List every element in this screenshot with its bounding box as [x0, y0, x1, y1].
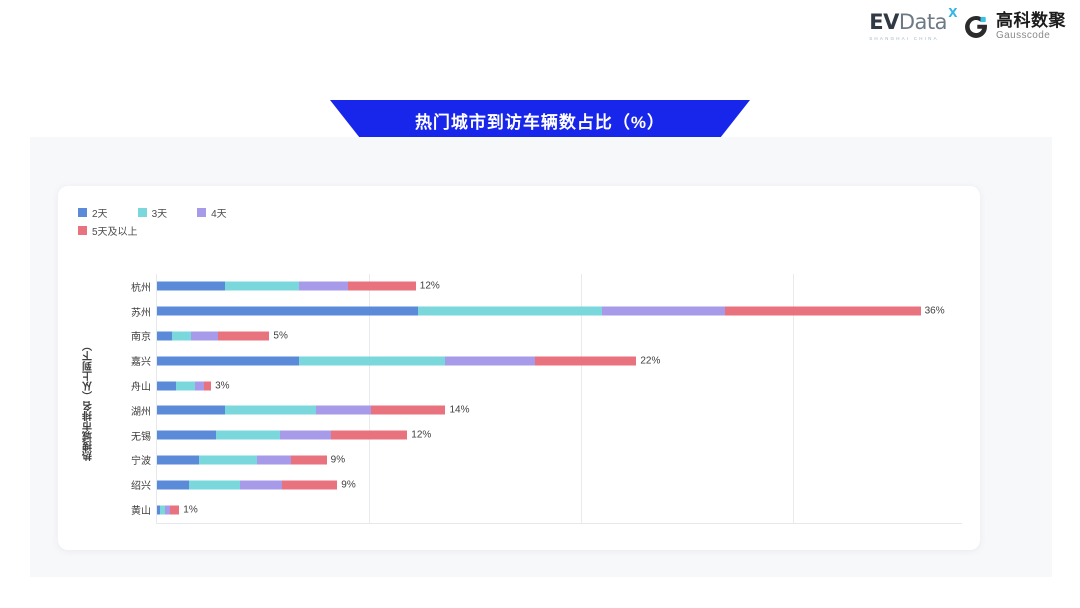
plot-grid-area: 杭州12%苏州36%南京5%嘉兴22%舟山3%湖州14%无锡12%宁波9%绍兴9…	[156, 274, 962, 524]
bar-row[interactable]: 舟山3%	[157, 373, 962, 398]
bar-segment-3天[interactable]	[225, 406, 316, 415]
stacked-bar[interactable]	[157, 505, 179, 514]
title-banner: 热门城市到访车辆数占比（%）	[330, 100, 750, 140]
stacked-bar[interactable]	[157, 356, 636, 365]
bar-value-label: 22%	[636, 355, 660, 366]
chart-legend: 2天3天4天5天及以上	[78, 206, 498, 237]
bar-segment-3天[interactable]	[189, 480, 240, 489]
bar-segment-2天[interactable]	[157, 406, 225, 415]
legend-label: 4天	[211, 205, 227, 220]
legend-swatch-icon	[78, 226, 87, 235]
bar-segment-2天[interactable]	[157, 356, 299, 365]
bar-segment-4天[interactable]	[602, 307, 725, 316]
bar-segment-3天[interactable]	[418, 307, 603, 316]
stacked-bar[interactable]	[157, 455, 327, 464]
bar-segment-5天及以上[interactable]	[291, 455, 327, 464]
stacked-bar[interactable]	[157, 381, 211, 390]
bar-segment-4天[interactable]	[299, 282, 348, 291]
bar-segment-4天[interactable]	[195, 381, 203, 390]
bar-row[interactable]: 苏州36%	[157, 299, 962, 324]
stacked-bar[interactable]	[157, 431, 407, 440]
bar-value-label: 12%	[416, 281, 440, 292]
bar-segment-5天及以上[interactable]	[204, 381, 211, 390]
slide-root: EVData X shanghai china 高科数聚 Gausscode 热…	[0, 0, 1080, 608]
legend-label: 3天	[152, 205, 168, 220]
bar-segment-5天及以上[interactable]	[331, 431, 407, 440]
bar-value-label: 14%	[445, 405, 469, 416]
brand-logo-bar: EVData X shanghai china 高科数聚 Gausscode	[869, 12, 1066, 41]
y-axis-label-湖州: 湖州	[85, 403, 151, 418]
bar-row[interactable]: 绍兴9%	[157, 472, 962, 497]
bar-row[interactable]: 黄山1%	[157, 497, 962, 522]
evdata-tagline: shanghai china	[869, 36, 939, 41]
legend-swatch-icon	[78, 208, 87, 217]
evdata-logo: EVData X shanghai china	[869, 12, 947, 41]
gausscode-logo: 高科数聚 Gausscode	[963, 12, 1066, 41]
bar-value-label: 9%	[327, 454, 345, 465]
bar-segment-5天及以上[interactable]	[170, 505, 180, 514]
bar-segment-3天[interactable]	[216, 431, 280, 440]
y-axis-label-南京: 南京	[85, 328, 151, 343]
legend-item-2天[interactable]: 2天	[78, 206, 108, 219]
bar-row[interactable]: 南京5%	[157, 324, 962, 349]
stacked-bar[interactable]	[157, 307, 921, 316]
bar-segment-5天及以上[interactable]	[218, 331, 269, 340]
legend-item-5天及以上[interactable]: 5天及以上	[78, 224, 498, 237]
chart-plot-area: 热搜城市排名（从上到下） 杭州12%苏州36%南京5%嘉兴22%舟山3%湖州14…	[82, 274, 962, 524]
evdata-wordmark: EVData X	[869, 12, 947, 33]
title-banner-wrap: 热门城市到访车辆数占比（%）	[0, 100, 1080, 142]
bar-segment-3天[interactable]	[172, 331, 191, 340]
bar-row[interactable]: 无锡12%	[157, 423, 962, 448]
bar-segment-3天[interactable]	[176, 381, 195, 390]
bar-segment-4天[interactable]	[316, 406, 371, 415]
evdata-ev-text: EV	[869, 10, 899, 34]
legend-label: 5天及以上	[92, 223, 138, 238]
bar-segment-5天及以上[interactable]	[535, 356, 637, 365]
chart-card: 2天3天4天5天及以上 热搜城市排名（从上到下） 杭州12%苏州36%南京5%嘉…	[58, 186, 980, 550]
y-axis-label-杭州: 杭州	[85, 279, 151, 294]
bar-segment-5天及以上[interactable]	[725, 307, 920, 316]
bar-segment-4天[interactable]	[280, 431, 331, 440]
evdata-x-superscript: X	[948, 7, 957, 19]
bar-segment-3天[interactable]	[225, 282, 299, 291]
stacked-bar[interactable]	[157, 331, 269, 340]
bar-segment-2天[interactable]	[157, 455, 199, 464]
bar-segment-2天[interactable]	[157, 331, 172, 340]
bar-segment-2天[interactable]	[157, 480, 189, 489]
bar-value-label: 1%	[179, 504, 197, 515]
stacked-bar[interactable]	[157, 282, 416, 291]
bar-segment-5天及以上[interactable]	[371, 406, 445, 415]
legend-item-4天[interactable]: 4天	[197, 206, 227, 219]
bar-row[interactable]: 杭州12%	[157, 274, 962, 299]
stacked-bar[interactable]	[157, 406, 445, 415]
bar-segment-2天[interactable]	[157, 431, 216, 440]
bar-segment-2天[interactable]	[157, 381, 176, 390]
legend-item-3天[interactable]: 3天	[138, 206, 168, 219]
y-axis-label-嘉兴: 嘉兴	[85, 353, 151, 368]
bar-segment-2天[interactable]	[157, 307, 418, 316]
y-axis-label-宁波: 宁波	[85, 452, 151, 467]
legend-swatch-icon	[138, 208, 147, 217]
bar-row[interactable]: 湖州14%	[157, 398, 962, 423]
bar-segment-4天[interactable]	[445, 356, 534, 365]
gausscode-name-cn: 高科数聚	[996, 12, 1066, 29]
bar-segment-5天及以上[interactable]	[282, 480, 337, 489]
bar-value-label: 5%	[269, 330, 287, 341]
gausscode-name-en: Gausscode	[996, 31, 1066, 41]
bar-segment-3天[interactable]	[199, 455, 256, 464]
gausscode-text: 高科数聚 Gausscode	[996, 12, 1066, 41]
y-axis-label-绍兴: 绍兴	[85, 477, 151, 492]
legend-label: 2天	[92, 205, 108, 220]
y-axis-label-苏州: 苏州	[85, 304, 151, 319]
bar-segment-4天[interactable]	[240, 480, 282, 489]
bar-segment-5天及以上[interactable]	[348, 282, 416, 291]
bar-value-label: 36%	[921, 306, 945, 317]
bar-row[interactable]: 宁波9%	[157, 448, 962, 473]
bar-segment-2天[interactable]	[157, 282, 225, 291]
bar-segment-3天[interactable]	[299, 356, 445, 365]
stacked-bar[interactable]	[157, 480, 337, 489]
y-axis-label-黄山: 黄山	[85, 502, 151, 517]
bar-segment-4天[interactable]	[257, 455, 291, 464]
gausscode-mark-icon	[963, 14, 989, 40]
bar-row[interactable]: 嘉兴22%	[157, 348, 962, 373]
bar-value-label: 12%	[407, 430, 431, 441]
page-title: 热门城市到访车辆数占比（%）	[415, 108, 665, 133]
evdata-data-text: Data	[899, 10, 947, 34]
bar-value-label: 3%	[211, 380, 229, 391]
bar-rows: 杭州12%苏州36%南京5%嘉兴22%舟山3%湖州14%无锡12%宁波9%绍兴9…	[157, 274, 962, 523]
bar-value-label: 9%	[337, 479, 355, 490]
y-axis-label-舟山: 舟山	[85, 378, 151, 393]
y-axis-label-无锡: 无锡	[85, 428, 151, 443]
legend-swatch-icon	[197, 208, 206, 217]
bar-segment-4天[interactable]	[191, 331, 219, 340]
